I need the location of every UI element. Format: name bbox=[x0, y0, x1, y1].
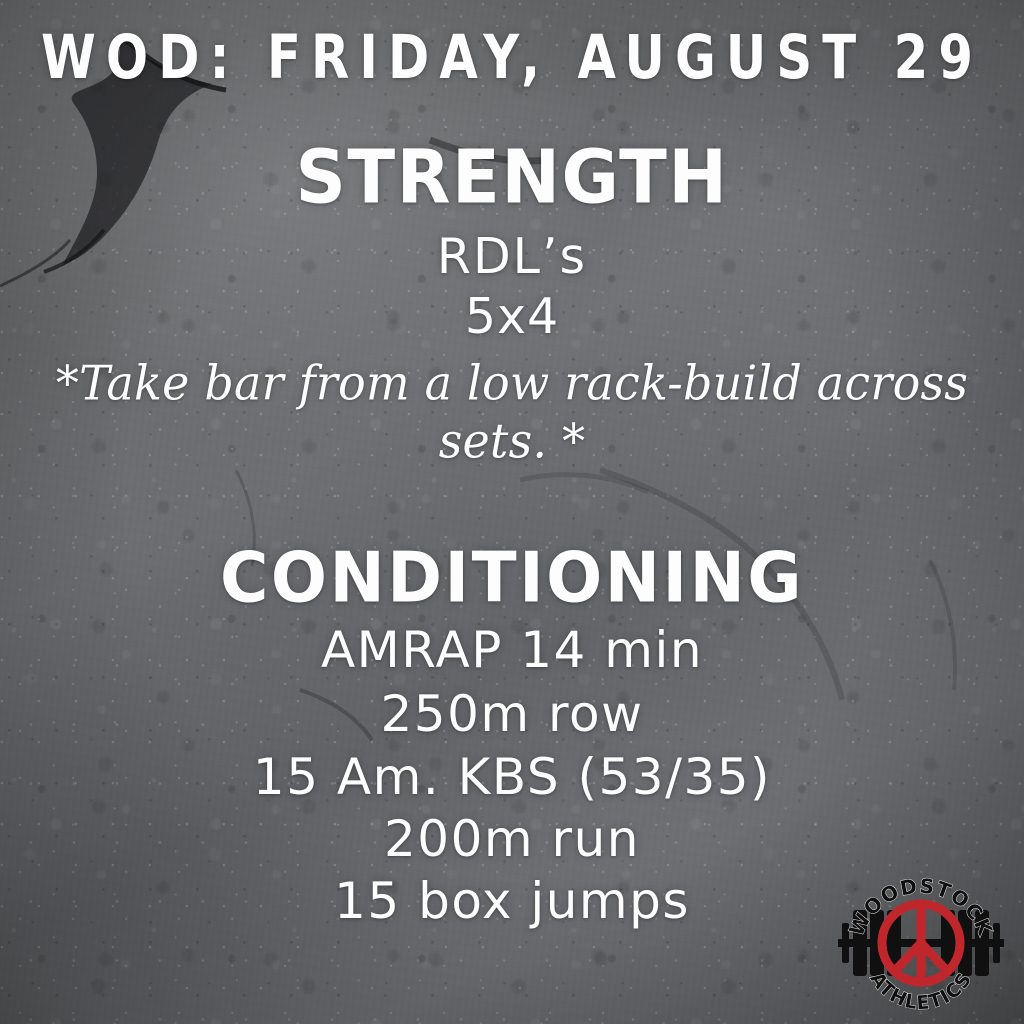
strength-section-heading: STRENGTH bbox=[0, 134, 1024, 221]
strength-note-line-1: *Take bar from a low rack-build across bbox=[0, 355, 1024, 411]
conditioning-movement-2: 15 Am. KBS (53/35) bbox=[0, 748, 1024, 806]
conditioning-movement-3: 200m run bbox=[0, 810, 1024, 868]
conditioning-format: AMRAP 14 min bbox=[0, 621, 1024, 679]
strength-note-line-2: sets. * bbox=[0, 413, 1024, 469]
wod-poster: WOD: FRIDAY, AUGUST 29 STRENGTH RDL’s 5x… bbox=[0, 0, 1024, 1024]
strength-sets-reps: 5x4 bbox=[0, 288, 1024, 345]
conditioning-section-heading: CONDITIONING bbox=[0, 537, 1024, 619]
conditioning-movement-1: 250m row bbox=[0, 685, 1024, 743]
woodstock-athletics-logo: WOODSTOCK ATHLETICS bbox=[826, 868, 1016, 1018]
strength-movement: RDL’s bbox=[0, 228, 1024, 285]
headline-date: WOD: FRIDAY, AUGUST 29 bbox=[41, 22, 983, 93]
